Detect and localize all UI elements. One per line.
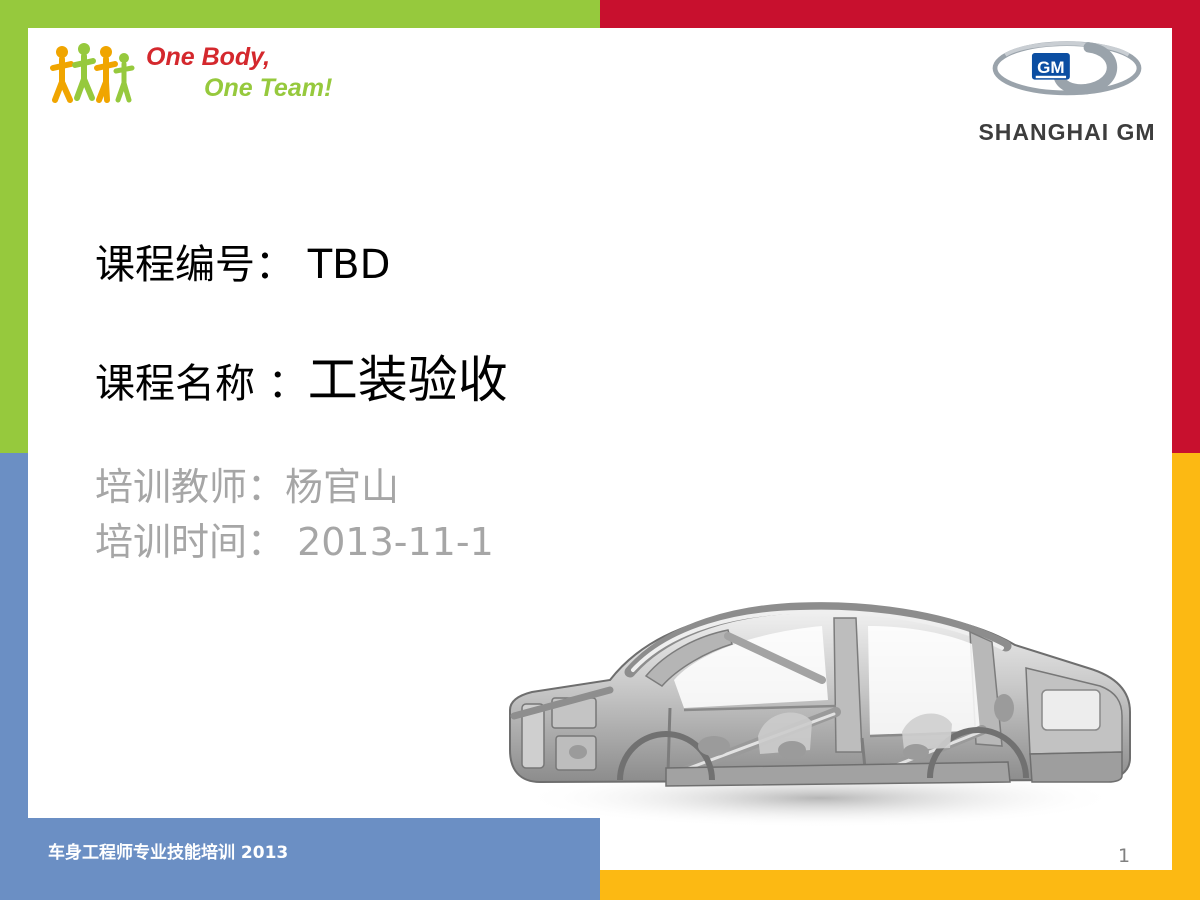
gm-wordmark: SHANGHAI GM: [972, 119, 1162, 146]
page-number: 1: [1118, 845, 1130, 867]
presentation-slide: One Body, One Team! GM SHANGHAI GM 课程编号：…: [0, 0, 1200, 900]
top-red-band: [600, 0, 1200, 28]
instructor-text: 培训教师：杨官山: [95, 460, 494, 515]
course-title-row: 课程名称 ： 工装验收: [95, 340, 508, 412]
slogan-line-1: One Body,: [146, 42, 332, 73]
car-body-in-white-photo: [470, 540, 1170, 840]
slogan-block: One Body, One Team!: [146, 42, 332, 105]
right-yellow-band: [1172, 453, 1200, 900]
left-green-band: [0, 28, 28, 453]
course-number-text: 课程编号： TBD: [95, 232, 390, 290]
course-title-label: 课程名称 ：: [95, 351, 308, 409]
gm-mark-icon: GM: [972, 34, 1162, 115]
slide-header-left: One Body, One Team!: [50, 38, 332, 108]
top-green-band: [0, 0, 600, 28]
svg-text:GM: GM: [1037, 58, 1064, 77]
left-blue-band: [0, 453, 28, 818]
right-red-band: [1172, 28, 1200, 453]
footer-text: 车身工程师专业技能培训 2013: [48, 838, 288, 863]
training-date-text: 培训时间： 2013-11-1: [95, 515, 494, 570]
course-title-value: 工装验收: [308, 340, 508, 412]
training-meta: 培训教师：杨官山 培训时间： 2013-11-1: [95, 460, 494, 570]
bottom-yellow-band: [600, 870, 1200, 900]
people-logo-icon: [50, 38, 136, 108]
slogan-line-2: One Team!: [146, 73, 332, 104]
shanghai-gm-logo: GM SHANGHAI GM: [972, 34, 1162, 146]
